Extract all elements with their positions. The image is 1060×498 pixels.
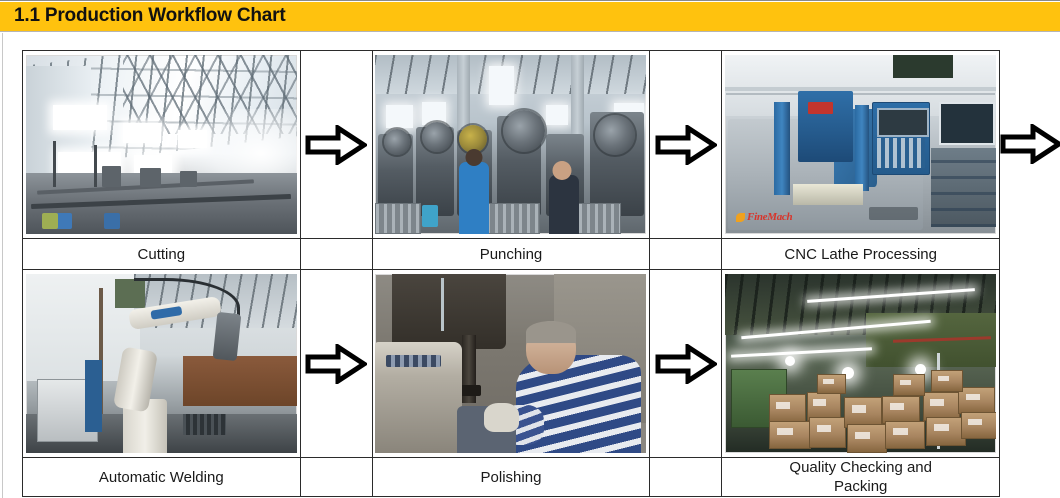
finemach-logo-text: FineMach (747, 211, 792, 223)
cell-arrow-2 (650, 51, 722, 239)
rust-wall (183, 356, 297, 406)
barrel (42, 213, 58, 229)
window (546, 105, 568, 125)
welding-torch (213, 312, 242, 361)
cnc-control-panel (872, 102, 931, 176)
table-row-labels-bottom: Automatic Welding Polishing Quality Chec… (23, 458, 1000, 497)
window (489, 66, 513, 105)
right-arrow-icon (655, 125, 717, 165)
spindle-head (798, 91, 852, 163)
carton (931, 370, 963, 392)
ceiling-lamp (785, 356, 795, 366)
worker-head (553, 161, 572, 180)
carton (926, 417, 966, 446)
logo-spark-icon (736, 213, 745, 222)
hand-tools (386, 355, 440, 368)
label-quality-checking-and-packing: Quality Checking and Packing (722, 458, 1000, 497)
worker (459, 162, 489, 234)
photo-polishing (375, 274, 646, 453)
right-arrow-icon-trailing (1000, 124, 1060, 164)
right-arrow-icon (305, 125, 367, 165)
photo-automatic-welding (26, 274, 297, 453)
photo-punching (375, 55, 646, 234)
air-pipe (441, 278, 444, 332)
page-left-margin-line (2, 33, 3, 498)
worker-hair (526, 321, 576, 344)
worker-head (466, 149, 483, 166)
label-spacer-1 (300, 239, 372, 270)
photo-cutting (26, 55, 297, 234)
carton (958, 387, 995, 414)
window (53, 105, 107, 130)
right-arrow-icon (305, 344, 367, 384)
table-row-photos-bottom (23, 270, 1000, 458)
control-box (85, 360, 101, 432)
carton (847, 424, 887, 453)
carton (769, 421, 812, 450)
section-header-bar: 1.1 Production Workflow Chart (0, 2, 1060, 31)
light-strip (731, 347, 872, 357)
wire-crate (375, 203, 420, 234)
label-spacer-3 (300, 458, 372, 497)
machine-column (774, 102, 790, 195)
worker-glove (484, 403, 519, 432)
cnc-screen (877, 108, 929, 136)
barrel (104, 213, 120, 229)
page-title: 1.1 Production Workflow Chart (14, 5, 285, 27)
support-post (94, 145, 97, 188)
warning-light (808, 102, 833, 113)
flywheel (422, 122, 452, 152)
drill-press-head (392, 274, 506, 349)
label-polishing: Polishing (372, 458, 650, 497)
flywheel (503, 110, 545, 152)
cell-photo-polishing[interactable] (372, 270, 650, 458)
cell-photo-cutting[interactable] (23, 51, 301, 239)
label-spacer-4 (650, 458, 722, 497)
monitor (939, 102, 994, 145)
support-post (53, 141, 56, 188)
page-top-rule (0, 0, 1060, 1)
carton (893, 374, 925, 396)
worker (549, 175, 579, 234)
carton (809, 417, 846, 448)
window (123, 123, 161, 143)
photo-quality-checking-packing (725, 274, 996, 453)
robot-brand-band (150, 305, 182, 320)
production-workflow-table: FineMach Cutting Punching CNC Lathe Proc… (22, 50, 1000, 497)
header-underline-rule (0, 31, 1060, 32)
label-cutting: Cutting (23, 239, 301, 270)
machine-table (793, 184, 863, 205)
cnc-keypad (877, 138, 925, 168)
ceiling-pipe (725, 87, 996, 91)
label-spacer-2 (650, 239, 722, 270)
cell-photo-automatic-welding[interactable] (23, 270, 301, 458)
carton (885, 421, 925, 450)
machine-column (855, 105, 869, 191)
photo-cnc-lathe: FineMach (725, 55, 996, 234)
right-arrow-icon (655, 344, 717, 384)
carton (817, 374, 846, 394)
machine-unit (102, 166, 121, 187)
table-row-labels-top: Cutting Punching CNC Lathe Processing (23, 239, 1000, 270)
cell-photo-quality-checking-packing[interactable] (722, 270, 1000, 458)
cell-photo-punching[interactable] (372, 51, 650, 239)
label-line-1: Quality Checking and (722, 458, 999, 477)
parts-tray (183, 414, 226, 435)
cell-arrow-4 (650, 270, 722, 458)
cell-photo-cnc-lathe[interactable]: FineMach (722, 51, 1000, 239)
machine-nameplate (869, 207, 918, 220)
flywheel (384, 129, 410, 155)
drum (422, 205, 438, 227)
storage-rack (931, 148, 996, 227)
table-row-photos-top: FineMach (23, 51, 1000, 239)
finemach-logo: FineMach (736, 209, 801, 225)
label-punching: Punching (372, 239, 650, 270)
cell-arrow-1 (300, 51, 372, 239)
label-automatic-welding: Automatic Welding (23, 458, 301, 497)
machine-unit (180, 171, 196, 187)
window (386, 105, 413, 128)
flywheel (595, 115, 635, 155)
wall-panel (893, 55, 953, 78)
label-cnc-lathe-processing: CNC Lathe Processing (722, 239, 1000, 270)
machine-unit (140, 168, 162, 188)
carton (961, 412, 996, 439)
worker (516, 321, 641, 453)
cell-arrow-3 (300, 270, 372, 458)
label-line-2: Packing (722, 477, 999, 496)
ceiling-lamp (915, 364, 926, 375)
